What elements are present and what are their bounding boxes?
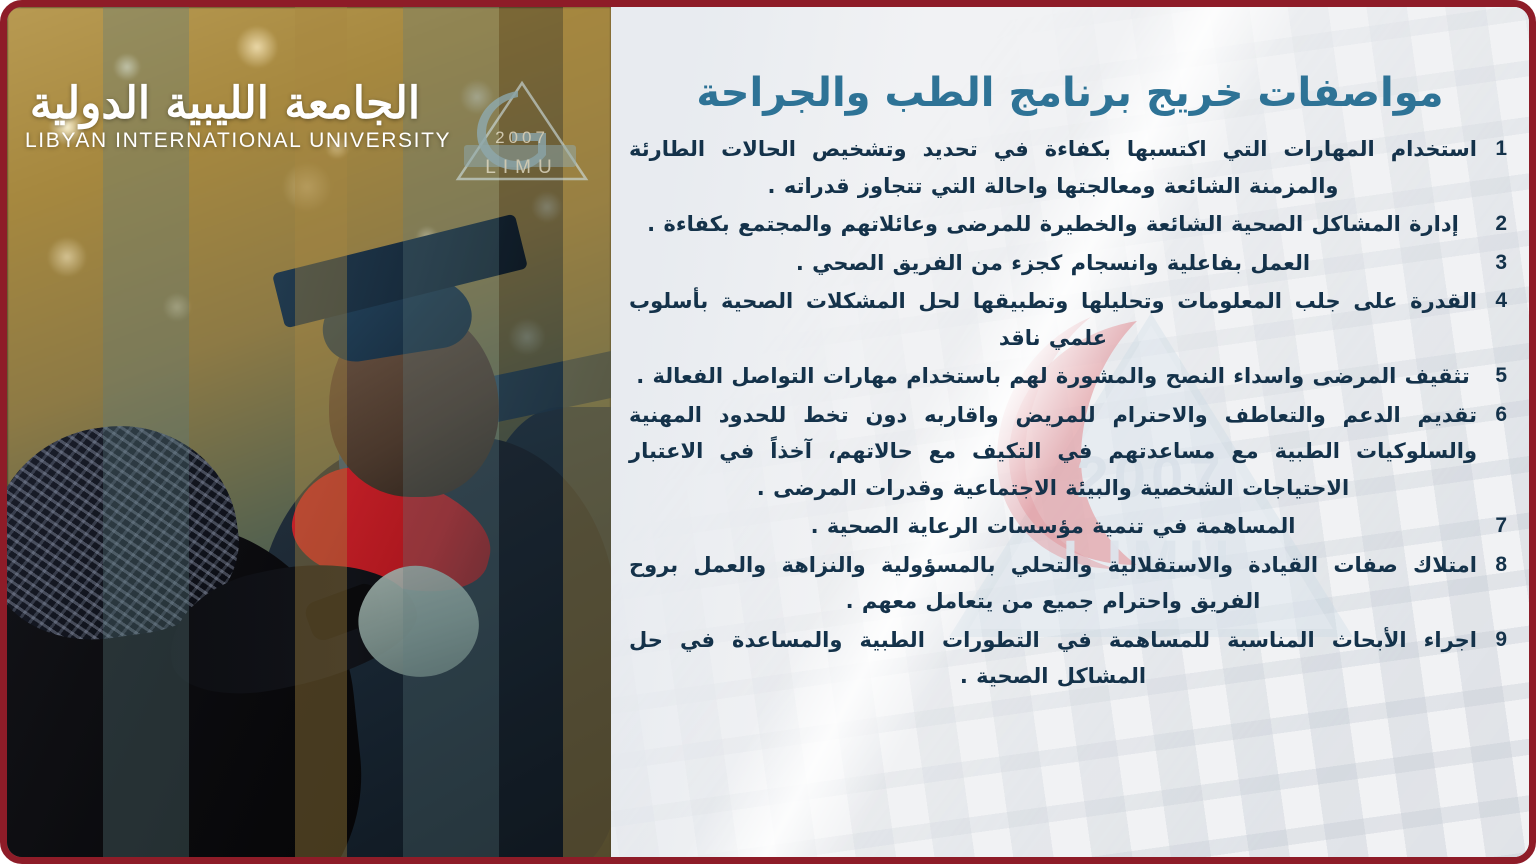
list-item: 7 المساهمة في تنمية مؤسسات الرعاية الصحي… — [629, 508, 1507, 545]
list-item: 8 امتلاك صفات القيادة والاستقلالية والتح… — [629, 547, 1507, 620]
svg-text:LIMU: LIMU — [485, 157, 558, 178]
list-item-number: 4 — [1487, 283, 1507, 320]
list-item-number: 3 — [1487, 245, 1507, 282]
list-item: 4 القدرة على جلب المعلومات وتحليلها وتطب… — [629, 283, 1507, 356]
list-item-number: 9 — [1487, 622, 1507, 659]
graduation-photo-panel: الجامعة الليبية الدولية LIBYAN INTERNATI… — [7, 7, 611, 864]
content-panel: 2007 LIMU مواصفات خريج برنامج الطب والجر… — [611, 7, 1529, 864]
list-item: 5 تثقيف المرضى واسداء النصح والمشورة لهم… — [629, 358, 1507, 395]
list-item: 2 إدارة المشاكل الصحية الشائعة والخطيرة … — [629, 206, 1507, 243]
list-item-text: العمل بفاعلية وانسجام كجزء من الفريق الص… — [629, 245, 1477, 282]
list-item: 1 استخدام المهارات التي اكتسبها بكفاءة ف… — [629, 131, 1507, 204]
list-item-text: اجراء الأبحاث المناسبة للمساهمة في التطو… — [629, 622, 1477, 695]
list-item-number: 2 — [1487, 206, 1507, 243]
list-item-number: 7 — [1487, 508, 1507, 545]
list-item-text: المساهمة في تنمية مؤسسات الرعاية الصحية … — [629, 508, 1477, 545]
list-item-number: 1 — [1487, 131, 1507, 168]
svg-text:2007: 2007 — [495, 128, 549, 147]
list-item-number: 6 — [1487, 397, 1507, 434]
list-item-number: 5 — [1487, 358, 1507, 395]
presentation-slide: الجامعة الليبية الدولية LIBYAN INTERNATI… — [0, 0, 1536, 864]
list-item-number: 8 — [1487, 547, 1507, 584]
university-logo: الجامعة الليبية الدولية LIBYAN INTERNATI… — [25, 81, 425, 153]
university-logo-arabic: الجامعة الليبية الدولية — [25, 81, 425, 127]
list-item: 3 العمل بفاعلية وانسجام كجزء من الفريق ا… — [629, 245, 1507, 282]
list-item-text: امتلاك صفات القيادة والاستقلالية والتحلي… — [629, 547, 1477, 620]
list-item-text: القدرة على جلب المعلومات وتحليلها وتطبيق… — [629, 283, 1477, 356]
list-item-text: تقديم الدعم والتعاطف والاحترام للمريض وا… — [629, 397, 1477, 507]
list-item: 6 تقديم الدعم والتعاطف والاحترام للمريض … — [629, 397, 1507, 507]
list-item: 9 اجراء الأبحاث المناسبة للمساهمة في الت… — [629, 622, 1507, 695]
university-logo-english: LIBYAN INTERNATIONAL UNIVERSITY — [25, 129, 425, 153]
limu-pyramid-logo-icon: 2007 LIMU — [454, 79, 590, 187]
list-item-text: تثقيف المرضى واسداء النصح والمشورة لهم ب… — [629, 358, 1477, 395]
list-item-text: إدارة المشاكل الصحية الشائعة والخطيرة لل… — [629, 206, 1477, 243]
competencies-list: 1 استخدام المهارات التي اكتسبها بكفاءة ف… — [629, 131, 1507, 697]
list-item-text: استخدام المهارات التي اكتسبها بكفاءة في … — [629, 131, 1477, 204]
page-title: مواصفات خريج برنامج الطب والجراحة — [647, 70, 1493, 116]
